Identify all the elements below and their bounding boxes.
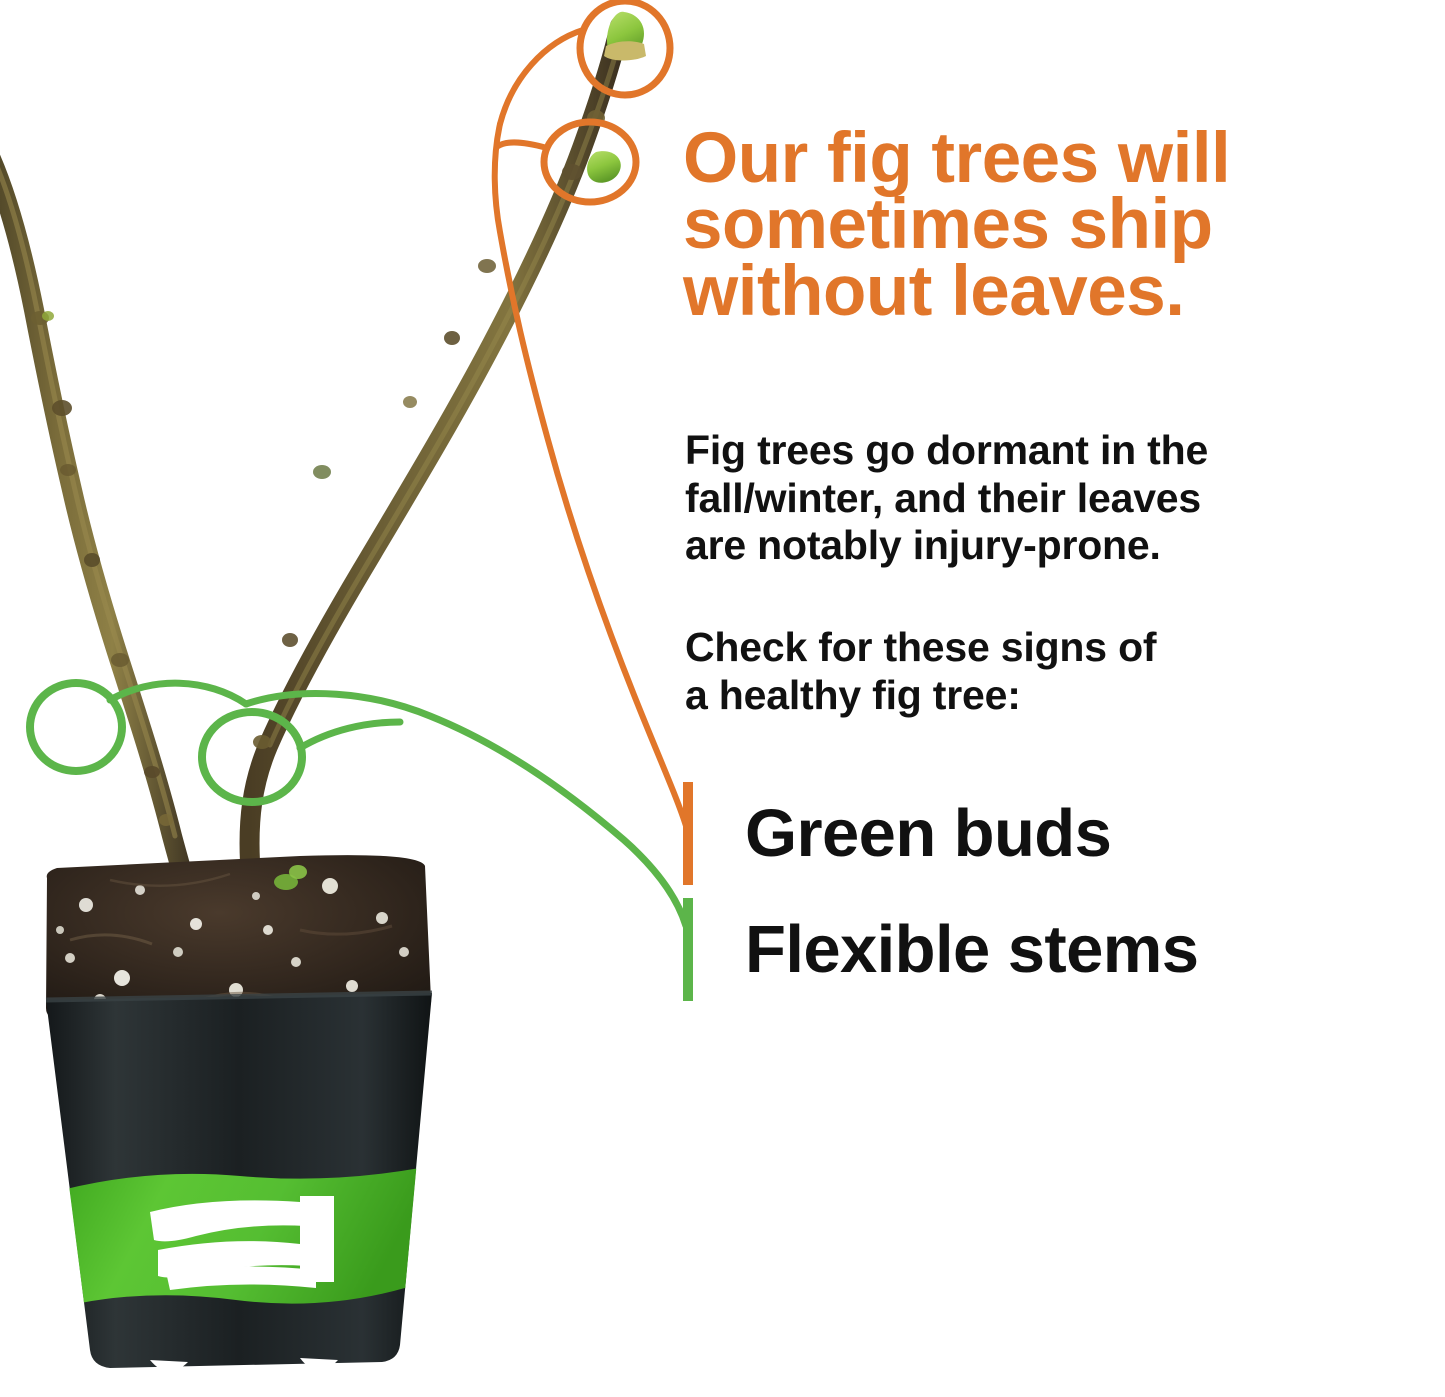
text-column: Our fig trees will sometimes ship withou… bbox=[683, 0, 1423, 1397]
bullet-flexible-stems: Flexible stems bbox=[683, 898, 1198, 1001]
stem-left bbox=[0, 148, 190, 900]
fig-tree-illustration bbox=[0, 0, 700, 1397]
bullet-label-flexible-stems: Flexible stems bbox=[745, 916, 1198, 983]
paragraph-dormancy: Fig trees go dormant in the fall/winter,… bbox=[685, 427, 1385, 570]
paragraph-2-line-2: a healthy fig tree: bbox=[685, 672, 1385, 720]
bud-tip bbox=[604, 12, 646, 61]
stem-main bbox=[250, 26, 622, 862]
paragraph-2-line-1: Check for these signs of bbox=[685, 624, 1385, 672]
bullet-label-green-buds: Green buds bbox=[745, 800, 1111, 867]
headline-line-2: sometimes ship bbox=[683, 192, 1413, 259]
plant-photo bbox=[0, 0, 700, 1397]
paragraph-1-line-1: Fig trees go dormant in the bbox=[685, 427, 1385, 475]
paragraph-check-signs: Check for these signs of a healthy fig t… bbox=[685, 624, 1385, 719]
headline-line-3: without leaves. bbox=[683, 259, 1413, 326]
paragraph-1-line-2: fall/winter, and their leaves bbox=[685, 475, 1385, 523]
pot-label-band bbox=[62, 1168, 420, 1306]
infographic-canvas: Our fig trees will sometimes ship withou… bbox=[0, 0, 1445, 1397]
bullet-green-buds: Green buds bbox=[683, 782, 1111, 885]
headline: Our fig trees will sometimes ship withou… bbox=[683, 126, 1413, 326]
paragraph-1-line-3: are notably injury-prone. bbox=[685, 522, 1385, 570]
bullet-bar-green bbox=[683, 898, 693, 1001]
bullet-bar-orange bbox=[683, 782, 693, 885]
nursery-pot bbox=[46, 993, 432, 1372]
bud-middle bbox=[587, 151, 621, 183]
headline-line-1: Our fig trees will bbox=[683, 126, 1413, 193]
